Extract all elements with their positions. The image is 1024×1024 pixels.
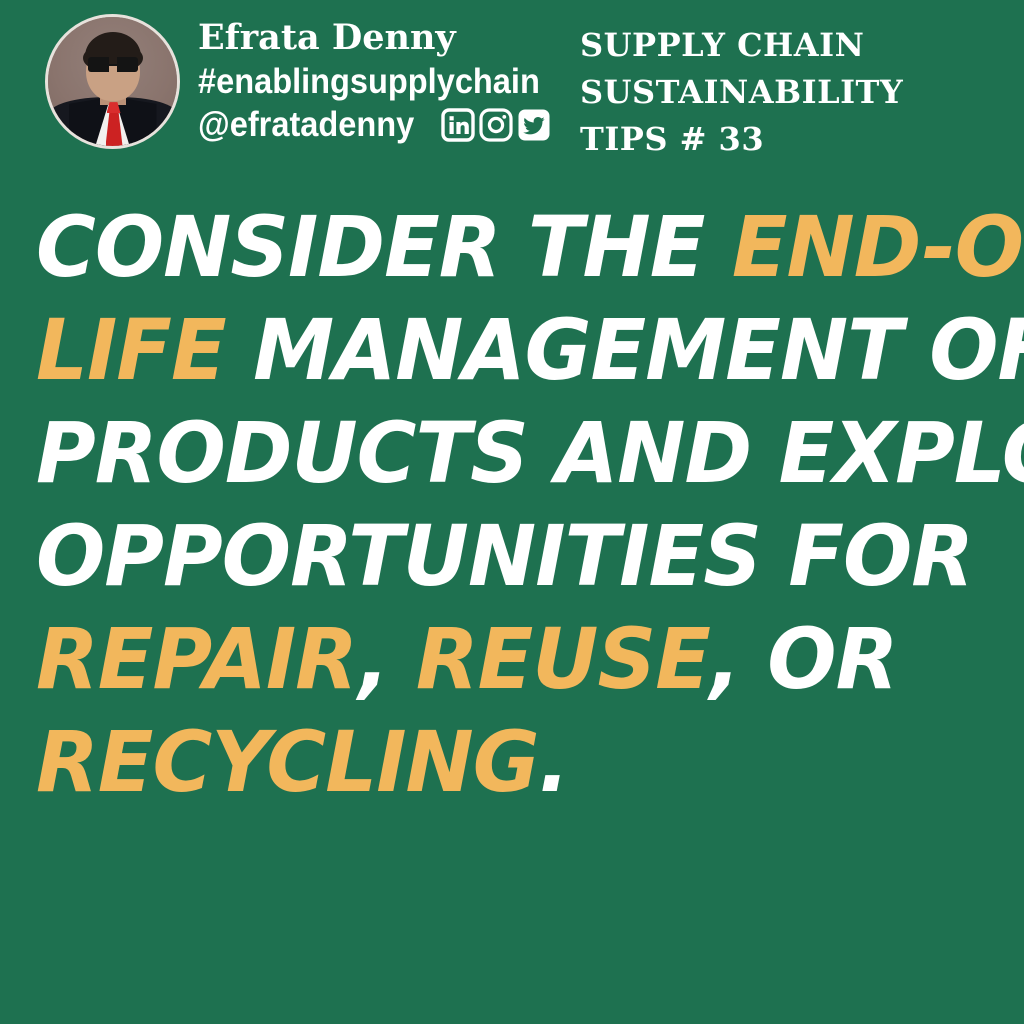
- headline-line: REPAIR, REUSE, OR: [36, 608, 967, 711]
- series-title-line-2: SUSTAINABILITY: [580, 69, 903, 116]
- headline-segment: REPAIR: [36, 610, 358, 708]
- social-links: [441, 108, 551, 142]
- identity-block: Efrata Denny #enablingsupplychain @efrat…: [198, 16, 568, 146]
- headline-line: RECYCLING.: [36, 711, 967, 814]
- headline-segment: .: [539, 713, 569, 811]
- instagram-icon[interactable]: [479, 108, 513, 142]
- headline-segment: ,: [358, 610, 415, 708]
- author-handle: @efratadenny: [198, 103, 414, 146]
- headline-line: OPPORTUNITIES FOR: [36, 505, 967, 608]
- series-title-line-3: TIPS # 33: [580, 116, 903, 163]
- headline-segment: RECYCLING: [36, 713, 539, 811]
- linkedin-icon[interactable]: [441, 108, 475, 142]
- avatar-glasses: [88, 57, 138, 72]
- series-title-line-1: SUPPLY CHAIN: [580, 22, 903, 69]
- social-post-card: Efrata Denny #enablingsupplychain @efrat…: [0, 0, 1024, 1024]
- series-title: SUPPLY CHAIN SUSTAINABILITY TIPS # 33: [580, 22, 903, 163]
- author-name: Efrata Denny: [198, 16, 568, 60]
- headline-text: CONSIDER THE END-OF-LIFE MANAGEMENT OFPR…: [36, 196, 996, 814]
- headline-segment: CONSIDER THE: [36, 198, 732, 296]
- headline-segment: PRODUCTS AND EXPLORE: [36, 404, 1024, 502]
- headline-segment: LIFE: [36, 301, 226, 399]
- handle-and-socials-row: @efratadenny: [198, 103, 568, 146]
- headline-segment: OPPORTUNITIES FOR: [36, 507, 973, 605]
- headline-line: LIFE MANAGEMENT OF: [36, 299, 967, 402]
- headline-segment: , OR: [710, 610, 897, 708]
- avatar: [45, 14, 180, 149]
- headline-segment: REUSE: [416, 610, 710, 708]
- author-hashtag: #enablingsupplychain: [198, 60, 542, 103]
- headline-segment: MANAGEMENT OF: [226, 301, 1024, 399]
- headline-line: CONSIDER THE END-OF-: [36, 196, 967, 299]
- post-header: Efrata Denny #enablingsupplychain @efrat…: [0, 0, 1024, 178]
- twitter-icon[interactable]: [517, 108, 551, 142]
- headline-line: PRODUCTS AND EXPLORE: [36, 402, 967, 505]
- headline-segment: END-OF-: [732, 198, 1024, 296]
